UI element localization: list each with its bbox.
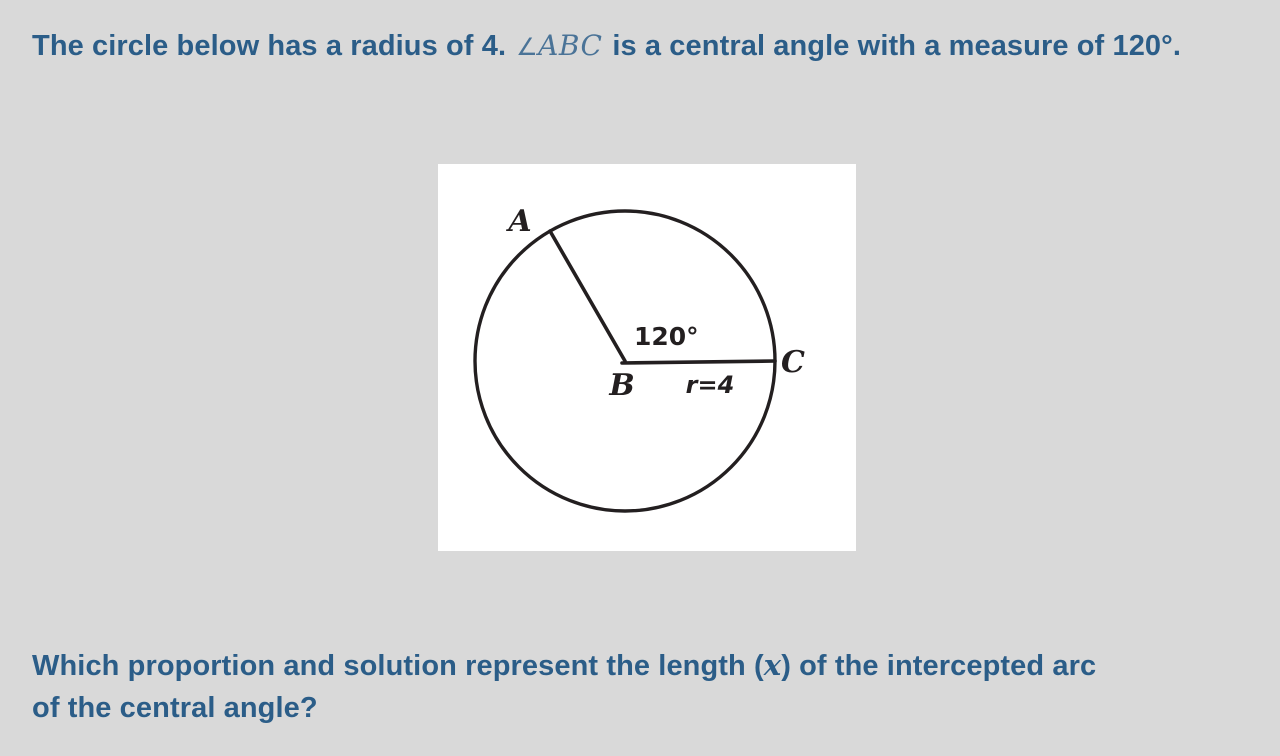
angle-abc-letters: ABC [538,29,602,62]
question-variable-x: x [764,648,781,682]
question-text-part1: Which proportion and solution represent … [32,650,764,682]
circle-diagram-svg: A B C 120° r=4 [438,164,856,551]
angle-measure-label: 120° [634,322,699,351]
point-label-b: B [608,368,634,403]
angle-symbol-icon: ∠ [516,33,538,61]
stem-text-part1: The circle below has a radius of 4. [32,30,506,62]
problem-question: Which proportion and solution represent … [32,644,1112,729]
problem-stem: The circle below has a radius of 4.∠ABCi… [32,16,1192,77]
stem-text-part2: is a central angle with a measure of 120… [612,30,1181,62]
point-label-a: A [505,204,531,239]
angle-abc-notation: ∠ABC [506,29,612,62]
point-label-c: C [781,345,805,380]
radius-segment-bc [622,361,775,363]
circle-diagram-panel: A B C 120° r=4 [438,164,856,551]
radius-segment-ba [550,231,625,361]
radius-measure-label: r=4 [686,371,735,399]
problem-page: The circle below has a radius of 4.∠ABCi… [0,0,1280,756]
